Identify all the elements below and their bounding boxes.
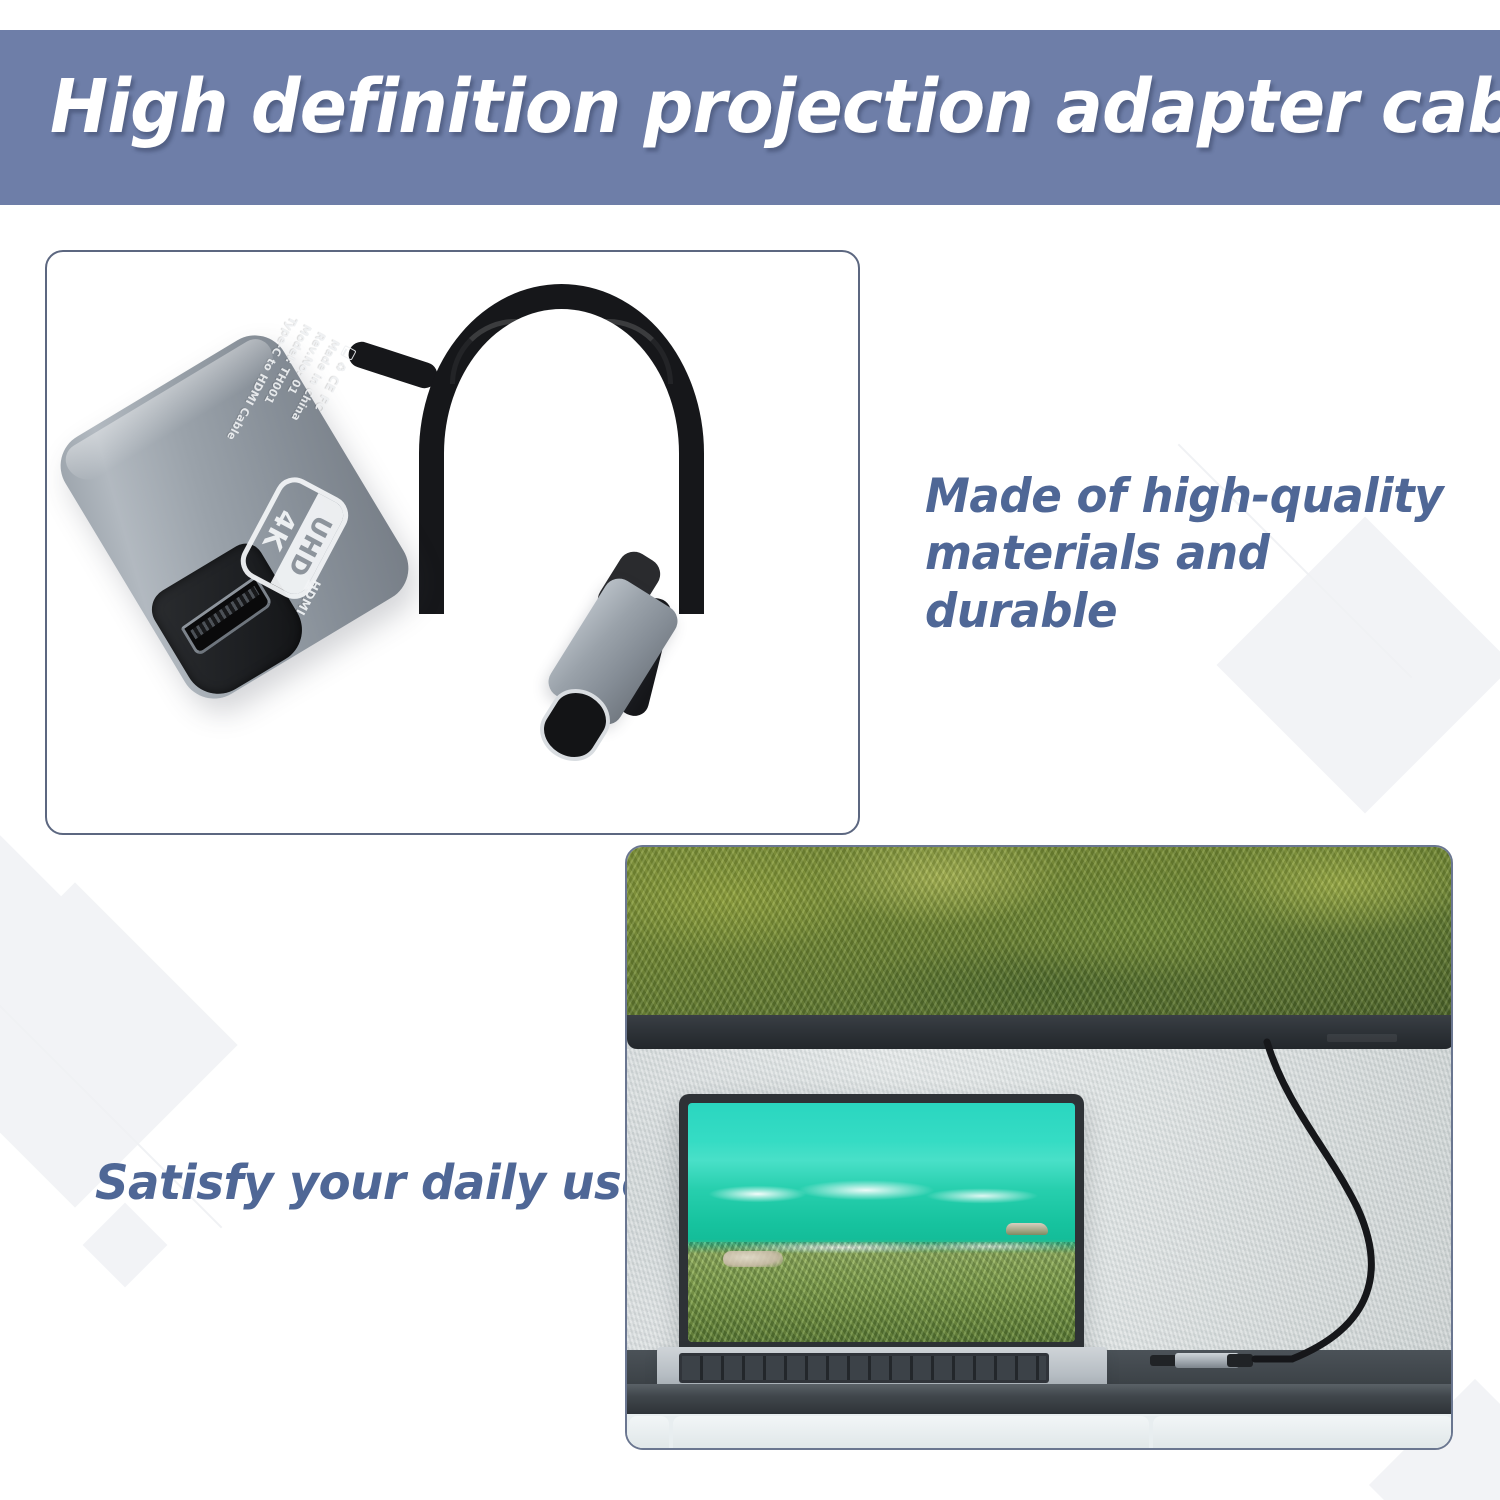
- watermark-diamond-mid-left: [0, 825, 75, 995]
- feature-text-materials: Made of high-quality materials and durab…: [925, 468, 1448, 640]
- cable-arc: [419, 284, 704, 614]
- header-banner: High definition projection adapter cable: [0, 30, 1500, 205]
- adapter-product-image: HDMI UHD 4K ♻ CE FC Made in China Rev.No…: [47, 252, 860, 835]
- cabinet-door-right: [1153, 1416, 1453, 1450]
- laptop-screen-rocks: [723, 1251, 783, 1267]
- lifestyle-scene-panel: [625, 845, 1453, 1450]
- page-title: High definition projection adapter cable: [50, 70, 1385, 144]
- watermark-diamond-small-left: [83, 1203, 168, 1288]
- product-infographic-page: High definition projection adapter cable…: [0, 0, 1500, 1500]
- desk-adapter-usb-c-plug: [1150, 1355, 1178, 1366]
- hdmi-port-slot-icon: [180, 575, 273, 657]
- tv-bezel: [627, 1015, 1453, 1049]
- laptop-screen-island: [1006, 1223, 1048, 1235]
- laptop-screen-clouds: [688, 1175, 1075, 1213]
- adapter-housing: HDMI UHD 4K ♻ CE FC Made in China Rev.No…: [48, 323, 421, 711]
- tv-moss-landscape-texture: [627, 847, 1453, 1015]
- desk-adapter-cable-end: [1227, 1354, 1253, 1367]
- product-photo-panel: HDMI UHD 4K ♻ CE FC Made in China Rev.No…: [45, 250, 860, 835]
- laptop-lid: [679, 1094, 1084, 1351]
- desk-front-edge: [627, 1384, 1453, 1414]
- laptop-screen: [688, 1103, 1075, 1342]
- cable-segment-left: [345, 338, 441, 391]
- feature-text-daily-use: Satisfy your daily use: [95, 1155, 652, 1211]
- cabinet-door-center: [673, 1416, 1149, 1450]
- lifestyle-scene-image: [627, 847, 1451, 1448]
- cabinet-row: [627, 1414, 1453, 1450]
- tv-screen: [627, 847, 1453, 1015]
- printed-spec-text: ♻ CE FC Made in China Rev.No: 01 Model: …: [212, 314, 361, 495]
- laptop-keyboard: [679, 1353, 1049, 1383]
- cabinet-door-left: [629, 1416, 669, 1450]
